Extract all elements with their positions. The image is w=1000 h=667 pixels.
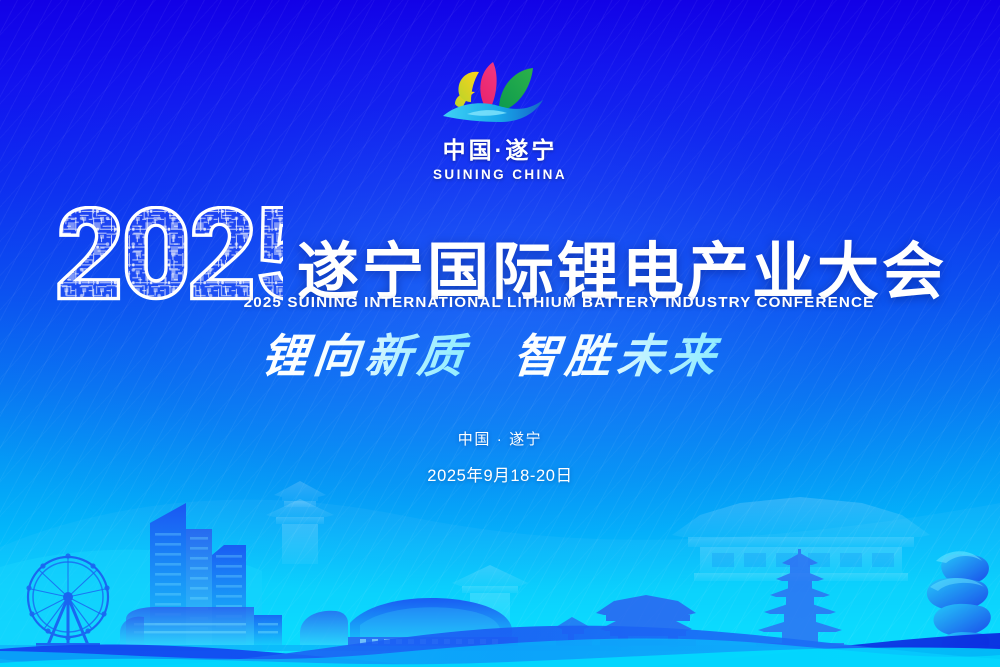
- event-meta: 中国 · 遂宁 2025年9月18-20日: [0, 428, 1000, 486]
- butterfly-lotus-icon: [425, 52, 575, 132]
- logo-english-text: SUINING CHINA: [433, 167, 567, 182]
- subtitle-english: 2025 SUINING INTERNATIONAL LITHIUM BATTE…: [0, 294, 1000, 311]
- slogan-brush-text: 锂向新质 智胜未来: [265, 322, 735, 388]
- year-2025-circuit-graphic: [53, 206, 283, 302]
- event-date: 2025年9月18-20日: [0, 462, 1000, 486]
- logo-chinese-text: 中国·遂宁: [443, 138, 558, 163]
- event-location: 中国 · 遂宁: [0, 428, 1000, 449]
- headline-row: 遂宁国际锂电产业大会: [0, 206, 1000, 304]
- city-logo: 中国·遂宁 SUINING CHINA: [0, 52, 1000, 182]
- conference-banner: 中国·遂宁 SUINING CHINA: [0, 0, 1000, 667]
- slogan-phrase-1: 锂向新质: [265, 329, 472, 383]
- slogan-calligraphy: 锂向新质 智胜未来: [0, 322, 1000, 388]
- slogan-phrase-2: 智胜未来: [511, 329, 725, 383]
